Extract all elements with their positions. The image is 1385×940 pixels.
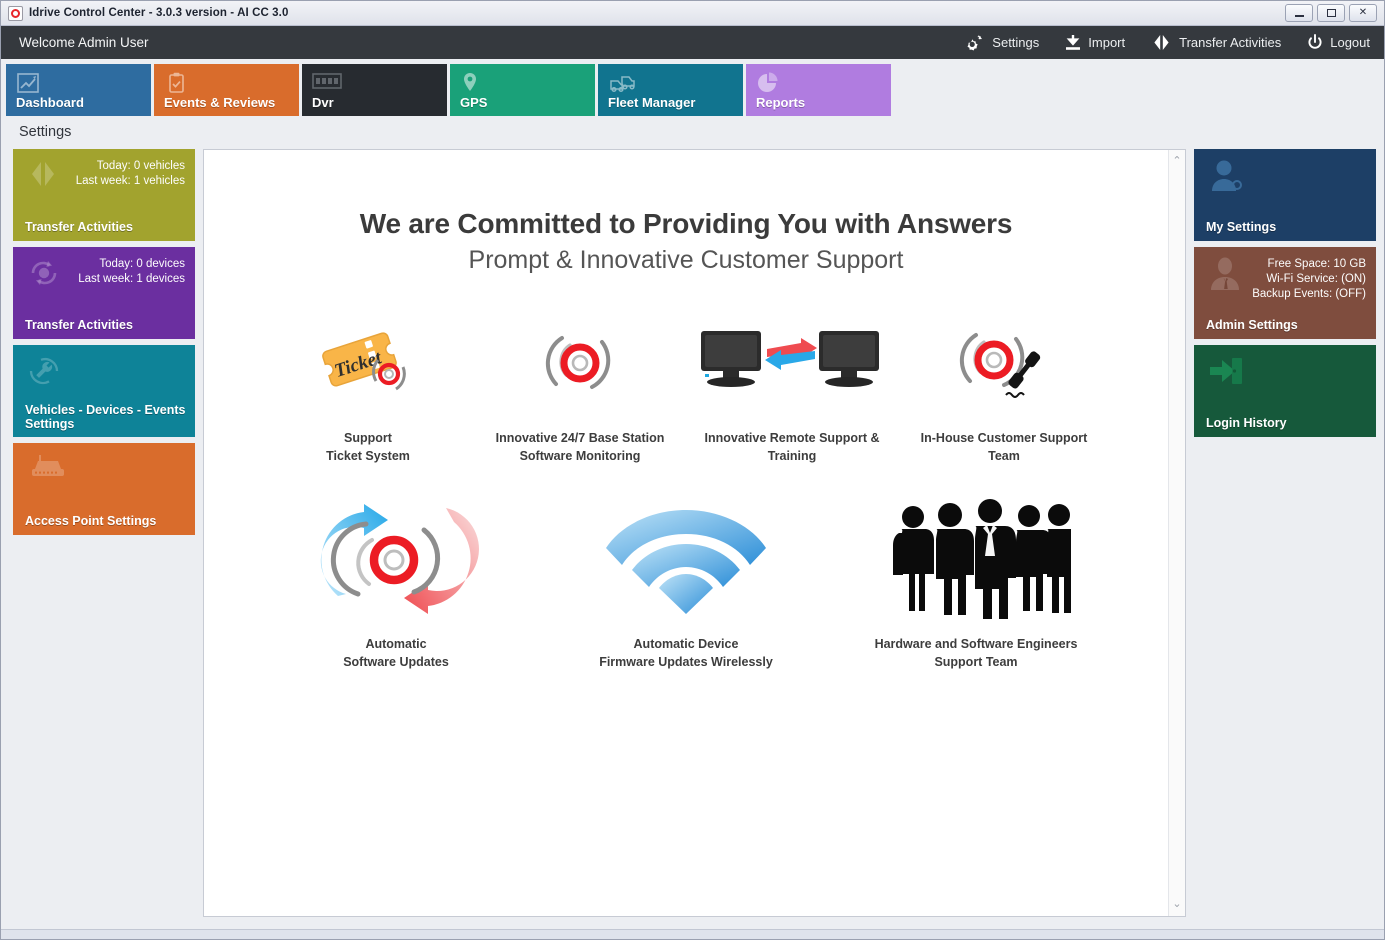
features-row-1: Ticket Support [204,313,1168,465]
tab-reports-label: Reports [756,95,805,110]
router-icon [27,453,67,488]
stat-line: Wi-Fi Service: (ON) [1266,273,1366,285]
scroll-down-arrow[interactable]: ⌄ [1172,899,1181,910]
left-sidebar: Today: 0 vehicles Last week: 1 vehicles … [13,149,195,917]
transfer-arrows-icon [1151,34,1172,51]
tile-stats: Free Space: 10 GB Wi-Fi Service: (ON) Ba… [1252,257,1366,302]
wifi-signal-icon [606,499,766,619]
menu-item-settings[interactable]: Settings [965,34,1039,51]
menu-item-transfer-activities[interactable]: Transfer Activities [1151,34,1281,51]
user-gear-icon [1208,159,1244,198]
content-scrollbar[interactable]: ⌃ ⌄ [1168,150,1185,916]
feature-label-line2: Software Updates [343,655,449,669]
menu-item-import[interactable]: Import [1065,34,1125,51]
tab-gps-label: GPS [460,95,487,110]
feature-label-line1: In-House Customer Support [921,431,1088,445]
vehicles-icon [608,71,638,98]
dvr-screen-icon [312,71,342,98]
tab-dashboard-label: Dashboard [16,95,84,110]
feature-engineers-support-team: Hardware and Software Engineers Support … [831,499,1121,671]
window-title: Idrive Control Center - 3.0.3 version - … [29,7,288,19]
download-icon [1065,34,1081,51]
feature-label-line2: Support Team [934,655,1017,669]
tab-reports[interactable]: Reports [746,64,891,116]
feature-support-ticket-system: Ticket Support [262,313,474,465]
wrench-icon [27,355,61,392]
feature-label: In-House Customer Support Team [921,429,1088,465]
menu-item-settings-label: Settings [992,35,1039,50]
feature-in-house-support-team: In-House Customer Support Team [898,313,1110,465]
feature-label-line1: Automatic [365,637,426,651]
breadcrumb-bar: Settings [1,117,1384,147]
tab-events-reviews-label: Events & Reviews [164,95,275,110]
feature-label-line1: Innovative Remote Support & [704,431,879,445]
feature-label-line1: Automatic Device [634,637,739,651]
tile-title: Transfer Activities [25,220,187,234]
page-subtitle: Prompt & Innovative Customer Support [204,246,1168,275]
application-window: Idrive Control Center - 3.0.3 version - … [0,0,1385,940]
tile-title: Admin Settings [1206,318,1368,332]
feature-label-line2: Training [768,449,817,463]
stat-line: Free Space: 10 GB [1268,258,1366,270]
menu-item-logout[interactable]: Logout [1307,34,1370,51]
feature-label-line2: Software Monitoring [520,449,641,463]
tab-fleet-manager-label: Fleet Manager [608,95,695,110]
feature-label-line2: Ticket System [326,449,410,463]
gears-icon [965,34,985,51]
feature-label: Innovative 24/7 Base Station Software Mo… [496,429,665,465]
menu-item-transfer-activities-label: Transfer Activities [1179,35,1281,50]
page-body: Today: 0 vehicles Last week: 1 vehicles … [1,147,1384,929]
remote-support-monitors-icon [697,313,887,413]
feature-label-line2: Firmware Updates Wirelessly [599,655,773,669]
minimize-button[interactable] [1285,4,1313,22]
feature-label-line2: Team [988,449,1020,463]
feature-label: Support Ticket System [326,429,410,465]
base-station-monitor-icon [540,313,620,413]
feature-label: Innovative Remote Support & Training [704,429,879,465]
tile-title: Login History [1206,416,1368,430]
tile-stats: Today: 0 devices Last week: 1 devices [78,257,185,287]
feature-label-line1: Support [344,431,392,445]
page-title: We are Committed to Providing You with A… [204,208,1168,240]
app-icon [8,6,23,21]
title-bar: Idrive Control Center - 3.0.3 version - … [1,1,1384,26]
stat-line: Today: 0 vehicles [97,160,185,172]
scroll-up-arrow[interactable]: ⌃ [1172,156,1181,167]
tab-dvr[interactable]: Dvr [302,64,447,116]
phone-support-icon [954,313,1054,413]
tile-admin-settings[interactable]: Free Space: 10 GB Wi-Fi Service: (ON) Ba… [1194,247,1376,339]
tab-dashboard[interactable]: Dashboard [6,64,151,116]
stat-line: Today: 0 devices [99,258,185,270]
welcome-label: Welcome Admin User [19,35,149,50]
login-arrow-icon [1208,355,1244,392]
tile-title: Access Point Settings [25,514,187,528]
stat-line: Last week: 1 vehicles [76,175,185,187]
right-sidebar: My Settings Free Space: 10 GB Wi-Fi Serv… [1194,149,1376,917]
feature-label-line1: Innovative 24/7 Base Station [496,431,665,445]
stat-line: Backup Events: (OFF) [1252,288,1366,300]
menu-actions: Settings Import Transf [965,34,1370,51]
power-icon [1307,34,1323,51]
tab-fleet-manager[interactable]: Fleet Manager [598,64,743,116]
software-update-icon [306,499,486,619]
support-ticket-icon: Ticket [314,313,422,413]
feature-automatic-firmware-updates: Automatic Device Firmware Updates Wirele… [541,499,831,671]
tile-title: My Settings [1206,220,1368,234]
breadcrumb: Settings [19,124,71,140]
tile-title: Transfer Activities [25,318,187,332]
tile-stats: Today: 0 vehicles Last week: 1 vehicles [76,159,185,189]
features-row-2: Automatic Software Updates [204,499,1168,671]
feature-base-station-monitoring: Innovative 24/7 Base Station Software Mo… [474,313,686,465]
tab-gps[interactable]: GPS [450,64,595,116]
tile-title: Vehicles - Devices - Events Settings [25,403,187,431]
status-bar [1,929,1384,939]
menu-bar: Welcome Admin User Settings [1,26,1384,59]
feature-remote-support-training: Innovative Remote Support & Training [686,313,898,465]
maximize-button[interactable] [1317,4,1345,22]
feature-automatic-software-updates: Automatic Software Updates [251,499,541,671]
window-controls: ✕ [1285,4,1381,22]
engineers-team-icon [881,499,1071,619]
admin-user-icon [1208,257,1242,296]
menu-item-import-label: Import [1088,35,1125,50]
tab-dvr-label: Dvr [312,95,334,110]
content-panel: We are Committed to Providing You with A… [203,149,1186,917]
content-scroll-area: We are Committed to Providing You with A… [204,150,1168,916]
transfer-arrows-icon [27,159,61,194]
tile-login-history[interactable]: Login History [1194,345,1376,437]
tile-vehicles-devices-events-settings[interactable]: Vehicles - Devices - Events Settings [13,345,195,437]
tile-transfer-activities-vehicles[interactable]: Today: 0 vehicles Last week: 1 vehicles … [13,149,195,241]
stat-line: Last week: 1 devices [78,273,185,285]
close-button[interactable]: ✕ [1349,4,1377,22]
tile-my-settings[interactable]: My Settings [1194,149,1376,241]
tile-access-point-settings[interactable]: Access Point Settings [13,443,195,535]
tile-transfer-activities-devices[interactable]: Today: 0 devices Last week: 1 devices Tr… [13,247,195,339]
sync-device-icon [27,257,61,294]
feature-label: Automatic Device Firmware Updates Wirele… [599,635,773,671]
feature-label: Hardware and Software Engineers Support … [875,635,1078,671]
feature-label: Automatic Software Updates [343,635,449,671]
tab-events-reviews[interactable]: Events & Reviews [154,64,299,116]
menu-item-logout-label: Logout [1330,35,1370,50]
main-tab-bar: Dashboard Events & Reviews [1,59,1384,117]
feature-label-line1: Hardware and Software Engineers [875,637,1078,651]
